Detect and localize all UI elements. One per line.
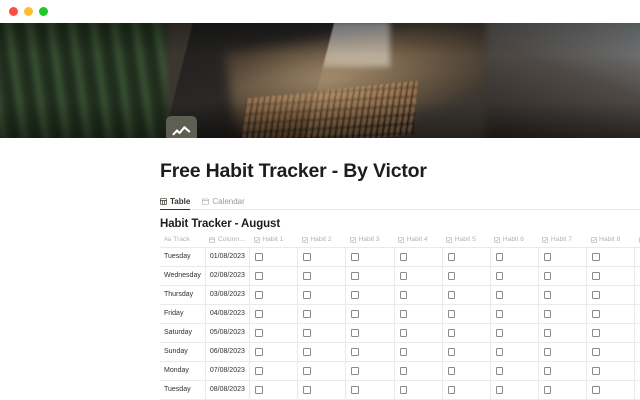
cell-habit-5-checkbox[interactable] — [442, 380, 490, 399]
checkbox-unchecked-icon[interactable] — [544, 272, 552, 280]
page-cover-image[interactable] — [0, 23, 640, 138]
cell-habit-8-checkbox[interactable] — [587, 380, 635, 399]
cell-habit-9-checkbox[interactable] — [635, 380, 640, 399]
cell-habit-6-checkbox[interactable] — [490, 323, 538, 342]
checkbox-unchecked-icon[interactable] — [544, 291, 552, 299]
cell-habit-9-checkbox[interactable] — [635, 323, 640, 342]
checkbox-unchecked-icon[interactable] — [400, 291, 408, 299]
database-title[interactable]: Habit Tracker - August — [160, 218, 640, 230]
cell-habit-3-checkbox[interactable] — [346, 266, 394, 285]
line-chart-icon[interactable] — [166, 116, 197, 138]
cell-day[interactable]: Saturday — [160, 323, 205, 342]
tab-calendar-label: Calendar — [212, 197, 244, 206]
cell-habit-7-checkbox[interactable] — [538, 323, 586, 342]
habit-table-container: Aa Track Colonn… — [160, 235, 640, 400]
checkbox-unchecked-icon[interactable] — [448, 348, 456, 356]
cover-artwork — [0, 23, 640, 138]
cell-habit-2-checkbox[interactable] — [298, 266, 346, 285]
checkbox-unchecked-icon[interactable] — [592, 367, 600, 375]
checkbox-unchecked-icon[interactable] — [496, 272, 504, 280]
window-titlebar — [0, 0, 640, 23]
cell-habit-7-checkbox[interactable] — [538, 247, 586, 266]
checkbox-unchecked-icon[interactable] — [544, 386, 552, 394]
cell-habit-7-checkbox[interactable] — [538, 285, 586, 304]
table-row[interactable]: Sunday06/08/2023 — [160, 342, 640, 361]
cell-habit-2-checkbox[interactable] — [298, 342, 346, 361]
checkbox-unchecked-icon[interactable] — [496, 310, 504, 318]
cell-habit-5-checkbox[interactable] — [442, 323, 490, 342]
column-header-habit-3-label: Habit 3 — [358, 236, 379, 243]
checkbox-unchecked-icon[interactable] — [400, 272, 408, 280]
cell-habit-5-checkbox[interactable] — [442, 285, 490, 304]
cell-habit-3-checkbox[interactable] — [346, 342, 394, 361]
checkbox-unchecked-icon[interactable] — [448, 310, 456, 318]
table-row[interactable]: Tuesday01/08/2023 — [160, 247, 640, 266]
cell-date[interactable]: 07/08/2023 — [205, 361, 249, 380]
cell-habit-4-checkbox[interactable] — [394, 266, 442, 285]
close-window-button[interactable] — [9, 7, 18, 16]
checkbox-unchecked-icon[interactable] — [255, 253, 263, 261]
checkbox-unchecked-icon[interactable] — [303, 291, 311, 299]
cell-habit-6-checkbox[interactable] — [490, 285, 538, 304]
checkbox-unchecked-icon[interactable] — [544, 310, 552, 318]
cell-habit-2-checkbox[interactable] — [298, 323, 346, 342]
table-row[interactable]: Tuesday08/08/2023 — [160, 380, 640, 399]
cell-date[interactable]: 04/08/2023 — [205, 304, 249, 323]
cell-habit-5-checkbox[interactable] — [442, 266, 490, 285]
checkbox-unchecked-icon[interactable] — [496, 329, 504, 337]
cell-habit-9-checkbox[interactable] — [635, 266, 640, 285]
cell-habit-5-checkbox[interactable] — [442, 361, 490, 380]
cell-habit-4-checkbox[interactable] — [394, 247, 442, 266]
column-header-habit-5[interactable]: Habit 5 — [442, 235, 490, 247]
checkbox-unchecked-icon[interactable] — [255, 329, 263, 337]
cell-habit-1-checkbox[interactable] — [250, 304, 298, 323]
checkbox-unchecked-icon[interactable] — [400, 367, 408, 375]
cell-habit-9-checkbox[interactable] — [635, 247, 640, 266]
column-header-habit-3[interactable]: Habit 3 — [346, 235, 394, 247]
habit-table: Aa Track Colonn… — [160, 235, 640, 400]
cell-habit-9-checkbox[interactable] — [635, 342, 640, 361]
checkbox-unchecked-icon[interactable] — [592, 348, 600, 356]
cell-habit-1-checkbox[interactable] — [250, 323, 298, 342]
column-header-habit-4-label: Habit 4 — [407, 236, 428, 243]
cell-day[interactable]: Thursday — [160, 285, 205, 304]
checkbox-unchecked-icon[interactable] — [351, 291, 359, 299]
cell-habit-8-checkbox[interactable] — [587, 361, 635, 380]
cell-habit-8-checkbox[interactable] — [587, 266, 635, 285]
checkbox-unchecked-icon[interactable] — [351, 329, 359, 337]
cell-habit-8-checkbox[interactable] — [587, 323, 635, 342]
table-row[interactable]: Monday07/08/2023 — [160, 361, 640, 380]
cell-habit-5-checkbox[interactable] — [442, 342, 490, 361]
checkbox-icon — [350, 237, 356, 243]
cell-habit-9-checkbox[interactable] — [635, 361, 640, 380]
cell-habit-8-checkbox[interactable] — [587, 342, 635, 361]
checkbox-unchecked-icon[interactable] — [496, 386, 504, 394]
checkbox-unchecked-icon[interactable] — [448, 329, 456, 337]
checkbox-unchecked-icon[interactable] — [400, 386, 408, 394]
cell-habit-8-checkbox[interactable] — [587, 304, 635, 323]
cell-date[interactable]: 08/08/2023 — [205, 380, 249, 399]
checkbox-unchecked-icon[interactable] — [592, 253, 600, 261]
page-title[interactable]: Free Habit Tracker - By Victor — [160, 138, 640, 183]
cell-habit-6-checkbox[interactable] — [490, 380, 538, 399]
cell-habit-7-checkbox[interactable] — [538, 304, 586, 323]
column-header-habit-5-label: Habit 5 — [455, 236, 476, 243]
checkbox-unchecked-icon[interactable] — [351, 310, 359, 318]
checkbox-unchecked-icon[interactable] — [303, 386, 311, 394]
checkbox-unchecked-icon[interactable] — [544, 329, 552, 337]
column-header-habit-8-label: Habit 8 — [599, 236, 620, 243]
checkbox-unchecked-icon[interactable] — [255, 367, 263, 375]
date-icon — [209, 237, 215, 243]
table-row[interactable]: Friday04/08/2023 — [160, 304, 640, 323]
cell-habit-4-checkbox[interactable] — [394, 380, 442, 399]
checkbox-unchecked-icon[interactable] — [351, 367, 359, 375]
cell-habit-4-checkbox[interactable] — [394, 361, 442, 380]
column-header-habit-6[interactable]: Habit 6 — [490, 235, 538, 247]
cell-habit-5-checkbox[interactable] — [442, 247, 490, 266]
cell-habit-7-checkbox[interactable] — [538, 266, 586, 285]
column-header-track-label: Track — [173, 236, 189, 243]
column-header-colonn[interactable]: Colonn… — [205, 235, 249, 247]
checkbox-unchecked-icon[interactable] — [448, 386, 456, 394]
header-row: Aa Track Colonn… — [160, 235, 640, 247]
cell-date[interactable]: 06/08/2023 — [205, 342, 249, 361]
checkbox-icon — [542, 237, 548, 243]
cell-habit-1-checkbox[interactable] — [250, 285, 298, 304]
cell-day[interactable]: Monday — [160, 361, 205, 380]
checkbox-unchecked-icon[interactable] — [448, 291, 456, 299]
page-content: Free Habit Tracker - By Victor Table Cal… — [0, 138, 640, 400]
column-header-habit-7-label: Habit 7 — [551, 236, 572, 243]
checkbox-unchecked-icon[interactable] — [303, 367, 311, 375]
checkbox-unchecked-icon[interactable] — [255, 310, 263, 318]
cell-habit-1-checkbox[interactable] — [250, 266, 298, 285]
table-row[interactable]: Wednesday02/08/2023 — [160, 266, 640, 285]
column-header-colonn-label: Colonn… — [218, 236, 246, 243]
checkbox-unchecked-icon[interactable] — [544, 367, 552, 375]
checkbox-icon — [398, 237, 404, 243]
cell-habit-3-checkbox[interactable] — [346, 323, 394, 342]
cell-habit-1-checkbox[interactable] — [250, 247, 298, 266]
cell-habit-2-checkbox[interactable] — [298, 361, 346, 380]
checkbox-unchecked-icon[interactable] — [255, 272, 263, 280]
cell-date[interactable]: 03/08/2023 — [205, 285, 249, 304]
cell-habit-1-checkbox[interactable] — [250, 380, 298, 399]
cell-date[interactable]: 05/08/2023 — [205, 323, 249, 342]
cell-habit-6-checkbox[interactable] — [490, 266, 538, 285]
checkbox-unchecked-icon[interactable] — [592, 291, 600, 299]
cell-date[interactable]: 02/08/2023 — [205, 266, 249, 285]
checkbox-unchecked-icon[interactable] — [544, 348, 552, 356]
checkbox-unchecked-icon[interactable] — [351, 253, 359, 261]
checkbox-unchecked-icon[interactable] — [303, 348, 311, 356]
cell-day[interactable]: Tuesday — [160, 247, 205, 266]
checkbox-unchecked-icon[interactable] — [400, 348, 408, 356]
cell-habit-9-checkbox[interactable] — [635, 285, 640, 304]
cell-habit-4-checkbox[interactable] — [394, 323, 442, 342]
cell-habit-4-checkbox[interactable] — [394, 304, 442, 323]
cell-habit-7-checkbox[interactable] — [538, 380, 586, 399]
checkbox-unchecked-icon[interactable] — [351, 272, 359, 280]
checkbox-unchecked-icon[interactable] — [400, 253, 408, 261]
column-header-habit-2-label: Habit 2 — [310, 236, 331, 243]
cell-day[interactable]: Tuesday — [160, 380, 205, 399]
checkbox-unchecked-icon[interactable] — [400, 329, 408, 337]
checkbox-unchecked-icon[interactable] — [255, 386, 263, 394]
column-header-habit-4[interactable]: Habit 4 — [394, 235, 442, 247]
cell-habit-2-checkbox[interactable] — [298, 380, 346, 399]
cell-habit-3-checkbox[interactable] — [346, 285, 394, 304]
tab-calendar[interactable]: Calendar — [202, 197, 244, 209]
habit-table-body: Tuesday01/08/2023Wednesday02/08/2023Thur… — [160, 247, 640, 400]
cell-habit-3-checkbox[interactable] — [346, 380, 394, 399]
checkbox-unchecked-icon[interactable] — [592, 386, 600, 394]
column-header-habit-1[interactable]: Habit 1 — [250, 235, 298, 247]
checkbox-unchecked-icon[interactable] — [448, 253, 456, 261]
cell-habit-2-checkbox[interactable] — [298, 285, 346, 304]
cell-habit-8-checkbox[interactable] — [587, 247, 635, 266]
cell-habit-3-checkbox[interactable] — [346, 304, 394, 323]
checkbox-unchecked-icon[interactable] — [255, 348, 263, 356]
cell-habit-4-checkbox[interactable] — [394, 342, 442, 361]
checkbox-unchecked-icon[interactable] — [303, 329, 311, 337]
cell-habit-6-checkbox[interactable] — [490, 342, 538, 361]
checkbox-unchecked-icon[interactable] — [448, 367, 456, 375]
cover-vignette — [0, 23, 640, 138]
column-header-habit-1-label: Habit 1 — [262, 236, 283, 243]
cell-habit-3-checkbox[interactable] — [346, 361, 394, 380]
cell-habit-8-checkbox[interactable] — [587, 285, 635, 304]
cell-habit-2-checkbox[interactable] — [298, 247, 346, 266]
cell-habit-1-checkbox[interactable] — [250, 361, 298, 380]
cell-habit-6-checkbox[interactable] — [490, 361, 538, 380]
cell-day[interactable]: Sunday — [160, 342, 205, 361]
checkbox-unchecked-icon[interactable] — [351, 348, 359, 356]
checkbox-unchecked-icon[interactable] — [303, 272, 311, 280]
checkbox-unchecked-icon[interactable] — [303, 253, 311, 261]
checkbox-unchecked-icon[interactable] — [592, 329, 600, 337]
tab-table-label: Table — [170, 197, 190, 206]
cell-habit-1-checkbox[interactable] — [250, 342, 298, 361]
column-header-habit-7[interactable]: Habit 7 — [538, 235, 586, 247]
cell-day[interactable]: Friday — [160, 304, 205, 323]
minimize-window-button[interactable] — [24, 7, 33, 16]
cell-day[interactable]: Wednesday — [160, 266, 205, 285]
database-view-tabs: Table Calendar — [160, 193, 640, 210]
checkbox-unchecked-icon[interactable] — [303, 310, 311, 318]
checkbox-icon — [254, 237, 260, 243]
column-header-habit-6-label: Habit 6 — [503, 236, 524, 243]
column-header-habit-9[interactable]: Habi — [635, 235, 640, 247]
checkbox-icon — [494, 237, 500, 243]
calendar-icon — [202, 198, 209, 205]
checkbox-icon — [591, 237, 597, 243]
cell-habit-6-checkbox[interactable] — [490, 304, 538, 323]
table-row[interactable]: Thursday03/08/2023 — [160, 285, 640, 304]
cell-habit-5-checkbox[interactable] — [442, 304, 490, 323]
checkbox-unchecked-icon[interactable] — [592, 272, 600, 280]
column-header-track[interactable]: Aa Track — [160, 235, 205, 247]
table-icon — [160, 198, 167, 205]
checkbox-icon — [446, 237, 452, 243]
column-header-habit-2[interactable]: Habit 2 — [298, 235, 346, 247]
checkbox-unchecked-icon[interactable] — [544, 253, 552, 261]
checkbox-unchecked-icon[interactable] — [448, 272, 456, 280]
cell-habit-4-checkbox[interactable] — [394, 285, 442, 304]
checkbox-unchecked-icon[interactable] — [351, 386, 359, 394]
tab-table[interactable]: Table — [160, 197, 190, 209]
cell-date[interactable]: 01/08/2023 — [205, 247, 249, 266]
checkbox-unchecked-icon[interactable] — [496, 291, 504, 299]
cell-habit-2-checkbox[interactable] — [298, 304, 346, 323]
checkbox-unchecked-icon[interactable] — [496, 367, 504, 375]
habit-table-header: Aa Track Colonn… — [160, 235, 640, 247]
text-aa-icon: Aa — [164, 237, 171, 243]
table-row[interactable]: Saturday05/08/2023 — [160, 323, 640, 342]
checkbox-unchecked-icon[interactable] — [496, 348, 504, 356]
cell-habit-6-checkbox[interactable] — [490, 247, 538, 266]
checkbox-icon — [302, 237, 308, 243]
checkbox-unchecked-icon[interactable] — [255, 291, 263, 299]
cell-habit-7-checkbox[interactable] — [538, 361, 586, 380]
cell-habit-3-checkbox[interactable] — [346, 247, 394, 266]
checkbox-unchecked-icon[interactable] — [400, 310, 408, 318]
cell-habit-9-checkbox[interactable] — [635, 304, 640, 323]
column-header-habit-8[interactable]: Habit 8 — [587, 235, 635, 247]
cell-habit-7-checkbox[interactable] — [538, 342, 586, 361]
checkbox-unchecked-icon[interactable] — [496, 253, 504, 261]
maximize-window-button[interactable] — [39, 7, 48, 16]
checkbox-unchecked-icon[interactable] — [592, 310, 600, 318]
